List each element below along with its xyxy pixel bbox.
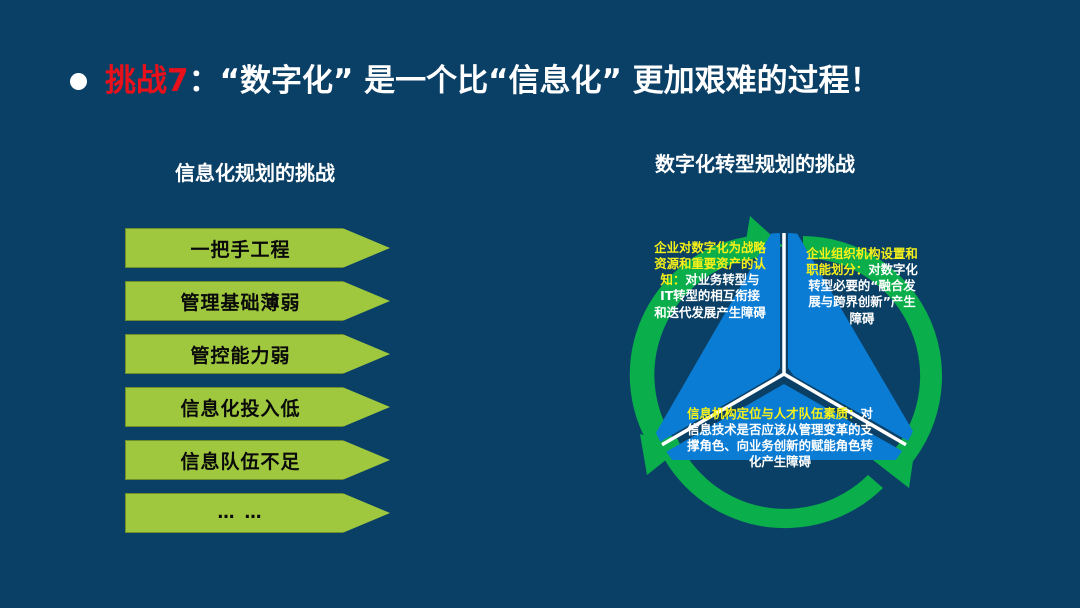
right-column-heading: 数字化转型规划的挑战 bbox=[655, 148, 855, 177]
page-title: 挑战7：“数字化” 是一个比“信息化” 更加艰难的过程！ bbox=[105, 66, 881, 97]
arrow-label: … … bbox=[218, 503, 264, 523]
segment-bottom-key: 信息机构定位与人才队伍素质： bbox=[687, 406, 860, 421]
arrow-label: 管控能力弱 bbox=[190, 341, 290, 368]
list-item: 管控能力弱 bbox=[125, 334, 390, 374]
arrow-label: 信息队伍不足 bbox=[180, 447, 300, 474]
bullet-dot-icon bbox=[70, 73, 87, 90]
arrow-label: 信息化投入低 bbox=[180, 394, 300, 421]
title-rest: ：“数字化” 是一个比“信息化” 更加艰难的过程！ bbox=[189, 63, 881, 99]
cycle-segment-right-text: 企业组织机构设置和职能划分：对数字化转型必要的“融合发展与跨界创新”产生障碍 bbox=[803, 246, 921, 396]
cycle-diagram: 企业对数字化为战略资源和重要资产的认知：对业务转型与IT转型的相互衔接和迭代发展… bbox=[598, 188, 970, 560]
cycle-segment-left-text: 企业对数字化为战略资源和重要资产的认知：对业务转型与IT转型的相互衔接和迭代发展… bbox=[654, 240, 766, 398]
title-highlight: 挑战7 bbox=[105, 63, 189, 99]
list-item: 信息化投入低 bbox=[125, 387, 390, 427]
arrow-label: 一把手工程 bbox=[190, 235, 290, 262]
list-item: 信息队伍不足 bbox=[125, 440, 390, 480]
list-item: 管理基础薄弱 bbox=[125, 281, 390, 321]
slide-title: 挑战7：“数字化” 是一个比“信息化” 更加艰难的过程！ bbox=[70, 66, 881, 97]
arrow-label: 管理基础薄弱 bbox=[180, 288, 300, 315]
left-column-heading: 信息化规划的挑战 bbox=[175, 157, 335, 186]
list-item: 一把手工程 bbox=[125, 228, 390, 268]
cycle-segment-bottom-text: 信息机构定位与人才队伍素质：对信息技术是否应该从管理变革的支撑角色、向业务创新的… bbox=[686, 406, 874, 524]
list-item: … … bbox=[125, 493, 390, 533]
challenge-arrow-list: 一把手工程 管理基础薄弱 管控能力弱 信息化投入低 信息队伍不足 … … bbox=[125, 228, 390, 533]
